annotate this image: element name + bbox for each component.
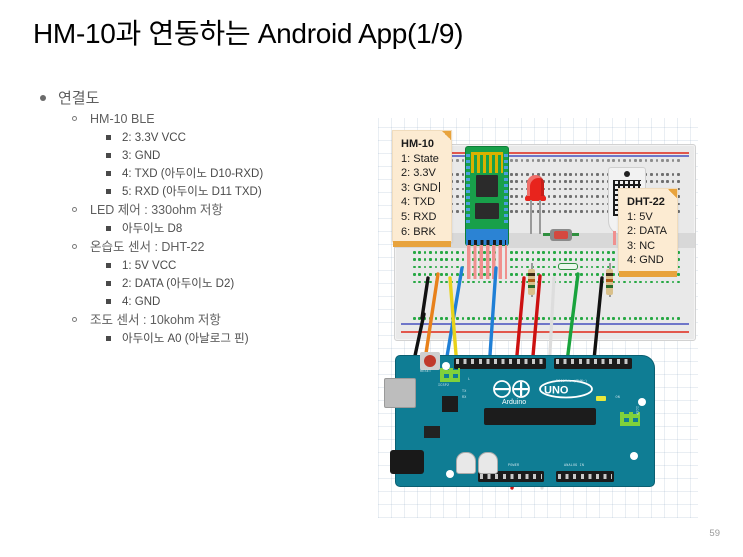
bullet-square-icon — [106, 299, 111, 304]
capacitors — [456, 452, 496, 472]
silkscreen-l: L — [468, 378, 470, 382]
bullet-square-icon — [106, 336, 111, 341]
note-fold-icon — [442, 131, 451, 140]
callout-line: 2: 3.3V — [401, 166, 443, 181]
list-item: 2: DATA (아두이노 D2) — [36, 275, 396, 293]
silkscreen-on: ON — [616, 396, 620, 400]
silkscreen-tx: TX — [462, 390, 466, 394]
bullet-circle-icon — [72, 317, 77, 322]
bullet-circle-icon — [72, 244, 77, 249]
callout-line: 5: RXD — [401, 210, 443, 225]
list-item-label: 3: GND — [122, 147, 160, 165]
bullet-circle-icon — [72, 116, 77, 121]
bullet-square-icon — [106, 135, 111, 140]
list-item-label: 조도 센서 : 10kohm 저항 — [90, 311, 221, 330]
callout-line-text: 3: GND — [401, 182, 438, 194]
bullet-square-icon — [106, 263, 111, 268]
callout-hm10: HM-10 1: State 2: 3.3V 3: GND 4: TXD 5: … — [392, 130, 452, 242]
list-item-label: 1: 5V VCC — [122, 257, 176, 275]
callout-dht22: DHT-22 1: 5V 2: DATA 3: NC 4: GND — [618, 188, 678, 272]
silkscreen-analog-in: ANALOG IN — [564, 464, 584, 468]
bullet-square-icon — [106, 171, 111, 176]
svg-text:UNO: UNO — [544, 385, 569, 397]
text-caret — [439, 182, 440, 192]
crystal-chip — [442, 396, 458, 412]
reset-button[interactable] — [420, 352, 440, 370]
bullet-disc-icon — [40, 95, 46, 101]
bullet-square-icon — [106, 189, 111, 194]
callout-line: 4: TXD — [401, 195, 443, 210]
list-item: 4: GND — [36, 293, 396, 311]
list-item-label: 온습도 센서 : DHT-22 — [90, 238, 204, 257]
list-item: 5: RXD (아두이노 D11 TXD) — [36, 183, 396, 201]
list-item: LED 제어 : 330ohm 저항 — [36, 201, 396, 220]
slide: HM-10과 연동하는 Android App(1/9) 연결도 HM-10 B… — [0, 0, 743, 557]
bullet-circle-icon — [72, 207, 77, 212]
outline-list: 연결도 HM-10 BLE 2: 3.3V VCC 3: GND 4: TXD … — [36, 88, 396, 348]
list-item-label: 4: TXD (아두이노 D10-RXD) — [122, 165, 263, 183]
microcontroller — [484, 408, 596, 425]
voltage-regulator — [424, 426, 440, 438]
arduino-uno-board: UNO Arduino RESET ICSP2 ICSP DIGITAL (PW… — [396, 356, 654, 486]
list-item-label: 5: RXD (아두이노 D11 TXD) — [122, 183, 262, 201]
note-fold-icon — [668, 189, 677, 198]
note-bar — [393, 241, 451, 247]
silkscreen-rx: RX — [462, 396, 466, 400]
list-item: 4: TXD (아두이노 D10-RXD) — [36, 165, 396, 183]
callout-title: HM-10 — [401, 137, 443, 152]
wire-black-short — [422, 278, 428, 318]
list-item: 조도 센서 : 10kohm 저항 — [36, 311, 396, 330]
list-item-label: 2: 3.3V VCC — [122, 129, 186, 147]
note-bar — [619, 271, 677, 277]
silkscreen-icsp2: ICSP2 — [438, 384, 449, 388]
silkscreen-digital: DIGITAL (PWM~) — [556, 380, 587, 384]
list-item-label: 아두이노 D8 — [122, 220, 182, 238]
usb-port — [384, 378, 416, 408]
callout-line: 6: BRK — [401, 225, 443, 240]
callout-line: 1: State — [401, 152, 443, 167]
list-item: 1: 5V VCC — [36, 257, 396, 275]
svg-text:Arduino: Arduino — [502, 399, 526, 406]
callout-title: DHT-22 — [627, 195, 669, 210]
list-item: 3: GND — [36, 147, 396, 165]
list-item: HM-10 BLE — [36, 110, 396, 129]
list-item: 온습도 센서 : DHT-22 — [36, 238, 396, 257]
callout-line-active: 3: GND — [401, 181, 443, 196]
page-title: HM-10과 연동하는 Android App(1/9) — [33, 16, 463, 52]
power-jack — [390, 450, 424, 474]
bullet-square-icon — [106, 281, 111, 286]
callout-line: 4: GND — [627, 253, 669, 268]
list-item-label: 아두이노 A0 (아날로그 핀) — [122, 330, 249, 348]
list-item-label: LED 제어 : 330ohm 저항 — [90, 201, 223, 220]
list-item: 연결도 — [36, 88, 396, 110]
bullet-square-icon — [106, 153, 111, 158]
bullet-square-icon — [106, 226, 111, 231]
callout-line: 3: NC — [627, 239, 669, 254]
wiring-diagram: UNO Arduino RESET ICSP2 ICSP DIGITAL (PW… — [378, 118, 698, 518]
silkscreen-power: POWER — [508, 464, 519, 468]
list-item-label: 연결도 — [58, 88, 99, 110]
list-item: 아두이노 A0 (아날로그 핀) — [36, 330, 396, 348]
silkscreen-reset: RESET — [420, 370, 431, 374]
list-item-label: 2: DATA (아두이노 D2) — [122, 275, 234, 293]
list-item: 2: 3.3V VCC — [36, 129, 396, 147]
callout-line: 2: DATA — [627, 224, 669, 239]
callout-line: 1: 5V — [627, 210, 669, 225]
page-number: 59 — [709, 528, 720, 539]
list-item: 아두이노 D8 — [36, 220, 396, 238]
silkscreen-icsp: ICSP — [634, 406, 638, 415]
icsp2-header — [440, 368, 460, 382]
list-item-label: 4: GND — [122, 293, 160, 311]
list-item-label: HM-10 BLE — [90, 110, 155, 129]
